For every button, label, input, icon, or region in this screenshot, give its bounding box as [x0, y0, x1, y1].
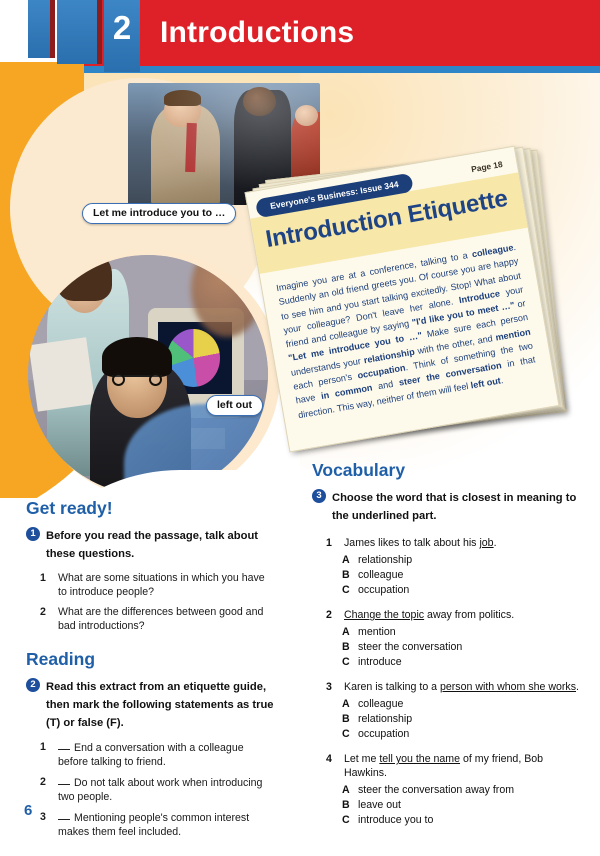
list-item-text: Mentioning people's common interest make… [58, 812, 249, 838]
option-letter: A [342, 783, 350, 798]
list-item-text: End a conversation with a colleague befo… [58, 742, 244, 768]
option-text: leave out [358, 799, 401, 811]
deco-bar-2 [57, 0, 97, 64]
list-item: 1End a conversation with a colleague bef… [26, 740, 276, 769]
chapter-number: 2 [104, 8, 140, 48]
vocabulary-stem: 4Let me tell you the name of my friend, … [312, 752, 580, 780]
list-item: 2Do not talk about work when introducing… [26, 775, 276, 804]
photo-caption-introduce: Let me introduce you to … [82, 203, 236, 224]
vocabulary-stem: 1James likes to talk about his job. [312, 536, 580, 550]
banner-blue-strip [84, 66, 600, 73]
deco-bar-1 [28, 0, 50, 58]
option-letter: A [342, 553, 350, 568]
vocabulary-items: 1James likes to talk about his job.Arela… [312, 536, 580, 828]
reading-heading: Reading [26, 649, 276, 670]
office-left-out-photo [28, 255, 268, 495]
task-3-badge: 3 [312, 489, 326, 503]
magazine-article-clipping: Everyone's Business: Issue 344 Page 18 I… [255, 150, 575, 450]
option-letter: A [342, 697, 350, 712]
option-letter: C [342, 583, 350, 598]
option-text: occupation [358, 584, 409, 596]
answer-blank[interactable] [58, 775, 70, 785]
answer-blank[interactable] [58, 740, 70, 750]
list-item-text: What are some situations in which you ha… [58, 572, 265, 598]
option-text: steer the conversation [358, 641, 462, 653]
list-item: 3Mentioning people's common interest mak… [26, 810, 276, 839]
vocabulary-option[interactable]: Cintroduce [312, 655, 580, 670]
article-front-page: Everyone's Business: Issue 344 Page 18 I… [245, 146, 560, 453]
reading-statements: 1End a conversation with a colleague bef… [26, 740, 276, 839]
task-2: 2 Read this extract from an etiquette gu… [26, 677, 276, 731]
deco-separator-1 [50, 0, 55, 58]
get-ready-heading: Get ready! [26, 498, 276, 519]
task-1-text: Before you read the passage, talk about … [46, 530, 258, 560]
task-3-text: Choose the word that is closest in meani… [332, 492, 576, 522]
vocabulary-item-number: 4 [326, 752, 332, 766]
get-ready-questions: 1What are some situations in which you h… [26, 571, 276, 633]
vocabulary-item: 4Let me tell you the name of my friend, … [312, 752, 580, 828]
vocabulary-stem: 3Karen is talking to a person with whom … [312, 680, 580, 694]
vocabulary-heading: Vocabulary [312, 460, 580, 481]
textbook-page: Let me introduce you to … left out 2 Int… [0, 0, 600, 856]
vocabulary-option[interactable]: Coccupation [312, 583, 580, 598]
option-letter: B [342, 712, 350, 727]
vocabulary-item-number: 1 [326, 536, 332, 550]
right-column: Vocabulary 3 Choose the word that is clo… [312, 460, 580, 838]
task-2-badge: 2 [26, 678, 40, 692]
option-letter: B [342, 640, 350, 655]
list-item: 2What are the differences between good a… [26, 605, 276, 633]
list-item: 1What are some situations in which you h… [26, 571, 276, 599]
deco-separator-2 [97, 0, 102, 64]
option-letter: B [342, 798, 350, 813]
eyeglasses-icon [112, 375, 162, 394]
vocabulary-item: 3Karen is talking to a person with whom … [312, 680, 580, 742]
option-text: mention [358, 626, 396, 638]
page-folio: 6 [24, 802, 32, 819]
vocabulary-option[interactable]: Coccupation [312, 727, 580, 742]
task-3: 3 Choose the word that is closest in mea… [312, 488, 580, 524]
task-2-text: Read this extract from an etiquette guid… [46, 681, 274, 729]
list-item-text: Do not talk about work when introducing … [58, 777, 262, 803]
option-text: colleague [358, 569, 403, 581]
page-title: Introductions [160, 16, 354, 50]
task-1: 1 Before you read the passage, talk abou… [26, 526, 276, 562]
vocabulary-item: 2Change the topic away from politics.Ame… [312, 608, 580, 670]
option-letter: C [342, 727, 350, 742]
vocabulary-item: 1James likes to talk about his job.Arela… [312, 536, 580, 598]
option-text: relationship [358, 713, 412, 725]
option-letter: A [342, 625, 350, 640]
list-item-number: 2 [40, 605, 46, 619]
vocabulary-option[interactable]: Bsteer the conversation [312, 640, 580, 655]
list-item-text: What are the differences between good an… [58, 606, 263, 632]
vocabulary-stem: 2Change the topic away from politics. [312, 608, 580, 622]
option-letter: C [342, 813, 350, 828]
vocabulary-item-number: 2 [326, 608, 332, 622]
answer-blank[interactable] [58, 810, 70, 820]
option-text: colleague [358, 698, 403, 710]
vocabulary-item-number: 3 [326, 680, 332, 694]
vocabulary-option[interactable]: Arelationship [312, 553, 580, 568]
article-body: Imagine you are at a conference, talking… [275, 240, 539, 422]
option-text: occupation [358, 728, 409, 740]
list-item-number: 3 [40, 810, 46, 824]
option-text: introduce [358, 656, 402, 668]
option-text: steer the conversation away from [358, 784, 514, 796]
vocabulary-option[interactable]: Cintroduce you to [312, 813, 580, 828]
left-column: Get ready! 1 Before you read the passage… [26, 498, 276, 845]
vocabulary-option[interactable]: Acolleague [312, 697, 580, 712]
vocabulary-option[interactable]: Amention [312, 625, 580, 640]
task-1-badge: 1 [26, 527, 40, 541]
vocabulary-option[interactable]: Bcolleague [312, 568, 580, 583]
vocabulary-option[interactable]: Bleave out [312, 798, 580, 813]
list-item-number: 1 [40, 740, 46, 754]
vocabulary-option[interactable]: Brelationship [312, 712, 580, 727]
option-letter: C [342, 655, 350, 670]
list-item-number: 1 [40, 571, 46, 585]
list-item-number: 2 [40, 775, 46, 789]
option-text: introduce you to [358, 814, 433, 826]
vocabulary-option[interactable]: Asteer the conversation away from [312, 783, 580, 798]
option-letter: B [342, 568, 350, 583]
option-text: relationship [358, 554, 412, 566]
article-page-number: Page 18 [470, 159, 503, 174]
